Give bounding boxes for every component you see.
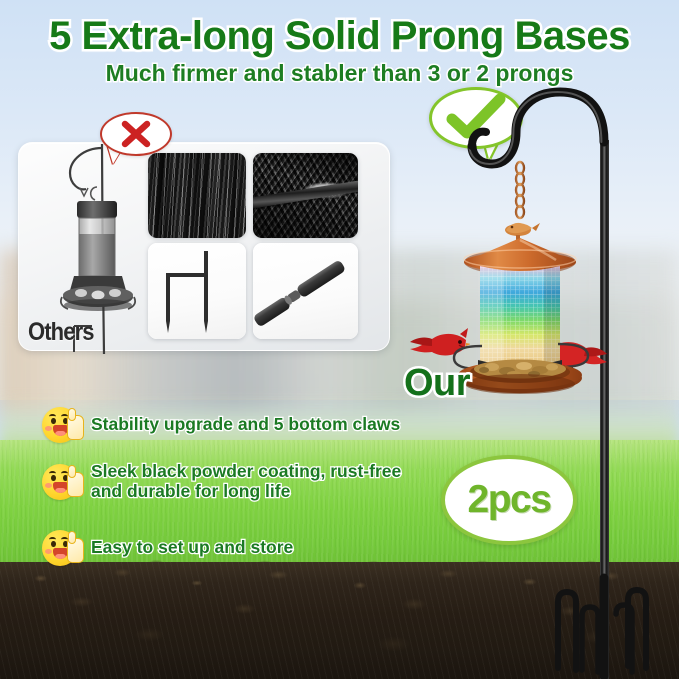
- quantity-badge: 2pcs: [441, 455, 577, 545]
- others-label: Others: [28, 318, 94, 347]
- feature-label-1: Stability upgrade and 5 bottom claws: [91, 415, 400, 435]
- feature-label-2: Sleek black powder coating, rust-free an…: [91, 462, 401, 501]
- feature-item-3: Easy to set up and store: [42, 528, 293, 568]
- others-hummingbird-feeder-illustration: [48, 185, 148, 330]
- product-infographic: 5 Extra-long Solid Prong Bases Much firm…: [0, 0, 679, 679]
- smiley-thumbs-up-icon: [42, 528, 86, 568]
- red-x-icon: [102, 114, 170, 154]
- thumbnail-detached-tube-sections: [253, 243, 358, 339]
- feature-item-1: Stability upgrade and 5 bottom claws: [42, 405, 400, 445]
- thumbnail-rusted-rods: [148, 153, 246, 238]
- our-product-label: Our: [404, 362, 470, 405]
- smiley-thumbs-up-icon: [42, 405, 86, 445]
- feature-item-2: Sleek black powder coating, rust-free an…: [42, 462, 401, 502]
- quantity-badge-text: 2pcs: [468, 478, 551, 522]
- mosaic-glass-bird-feeder: [452, 150, 592, 395]
- bird-finial-ornament: [505, 223, 540, 241]
- thumbnail-two-prong-stake: [148, 243, 246, 339]
- red-x-bubble: [100, 112, 172, 156]
- page-title: 5 Extra-long Solid Prong Bases: [0, 14, 679, 59]
- thumbnail-rusted-pole: [253, 153, 358, 238]
- feature-label-3: Easy to set up and store: [91, 538, 293, 558]
- smiley-thumbs-up-icon: [42, 462, 86, 502]
